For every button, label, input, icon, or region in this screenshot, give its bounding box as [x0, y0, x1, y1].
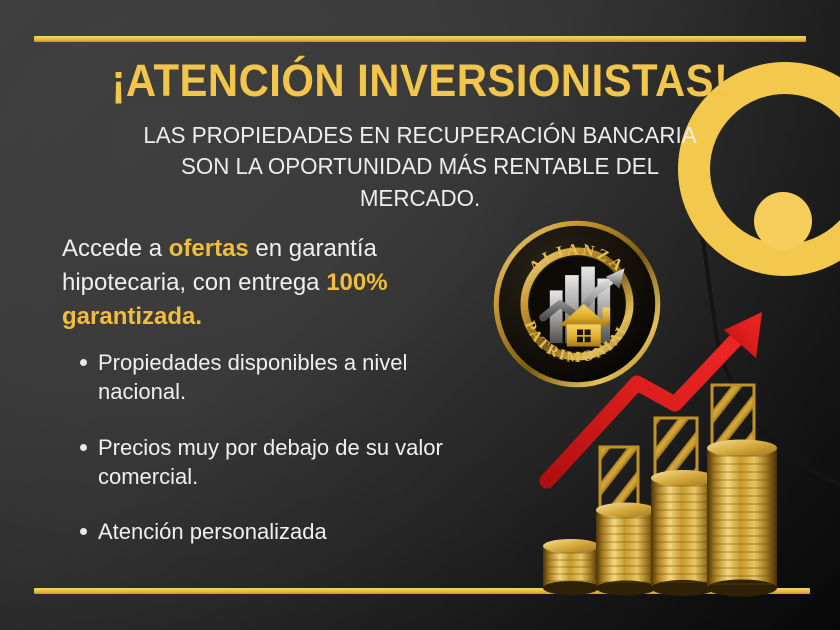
benefits-list: Propiedades disponibles a nivel nacional…: [66, 348, 466, 572]
list-item: Propiedades disponibles a nivel nacional…: [66, 348, 466, 407]
lead-highlight-ofertas: ofertas: [169, 235, 249, 262]
page-title: ¡ATENCIÓN INVERSIONISTAS!: [29, 58, 810, 104]
list-item: Precios muy por debajo de su valor comer…: [66, 433, 466, 492]
bottom-divider-rule: [34, 588, 810, 594]
lead-text-1: Accede a: [62, 235, 169, 262]
page-subtitle: LAS PROPIEDADES EN RECUPERACIÓN BANCARIA…: [127, 120, 712, 214]
decorative-gold-dot: [754, 192, 812, 250]
alianza-patrimonial-logo: ALIANZA PATRIMONIAL: [492, 219, 662, 389]
list-item: Atención personalizada: [66, 517, 466, 546]
lead-paragraph: Accede a ofertas en garantía hipotecaria…: [62, 232, 462, 334]
promotional-poster: ¡ATENCIÓN INVERSIONISTAS! LAS PROPIEDADE…: [0, 0, 840, 630]
top-divider-rule: [34, 36, 806, 42]
